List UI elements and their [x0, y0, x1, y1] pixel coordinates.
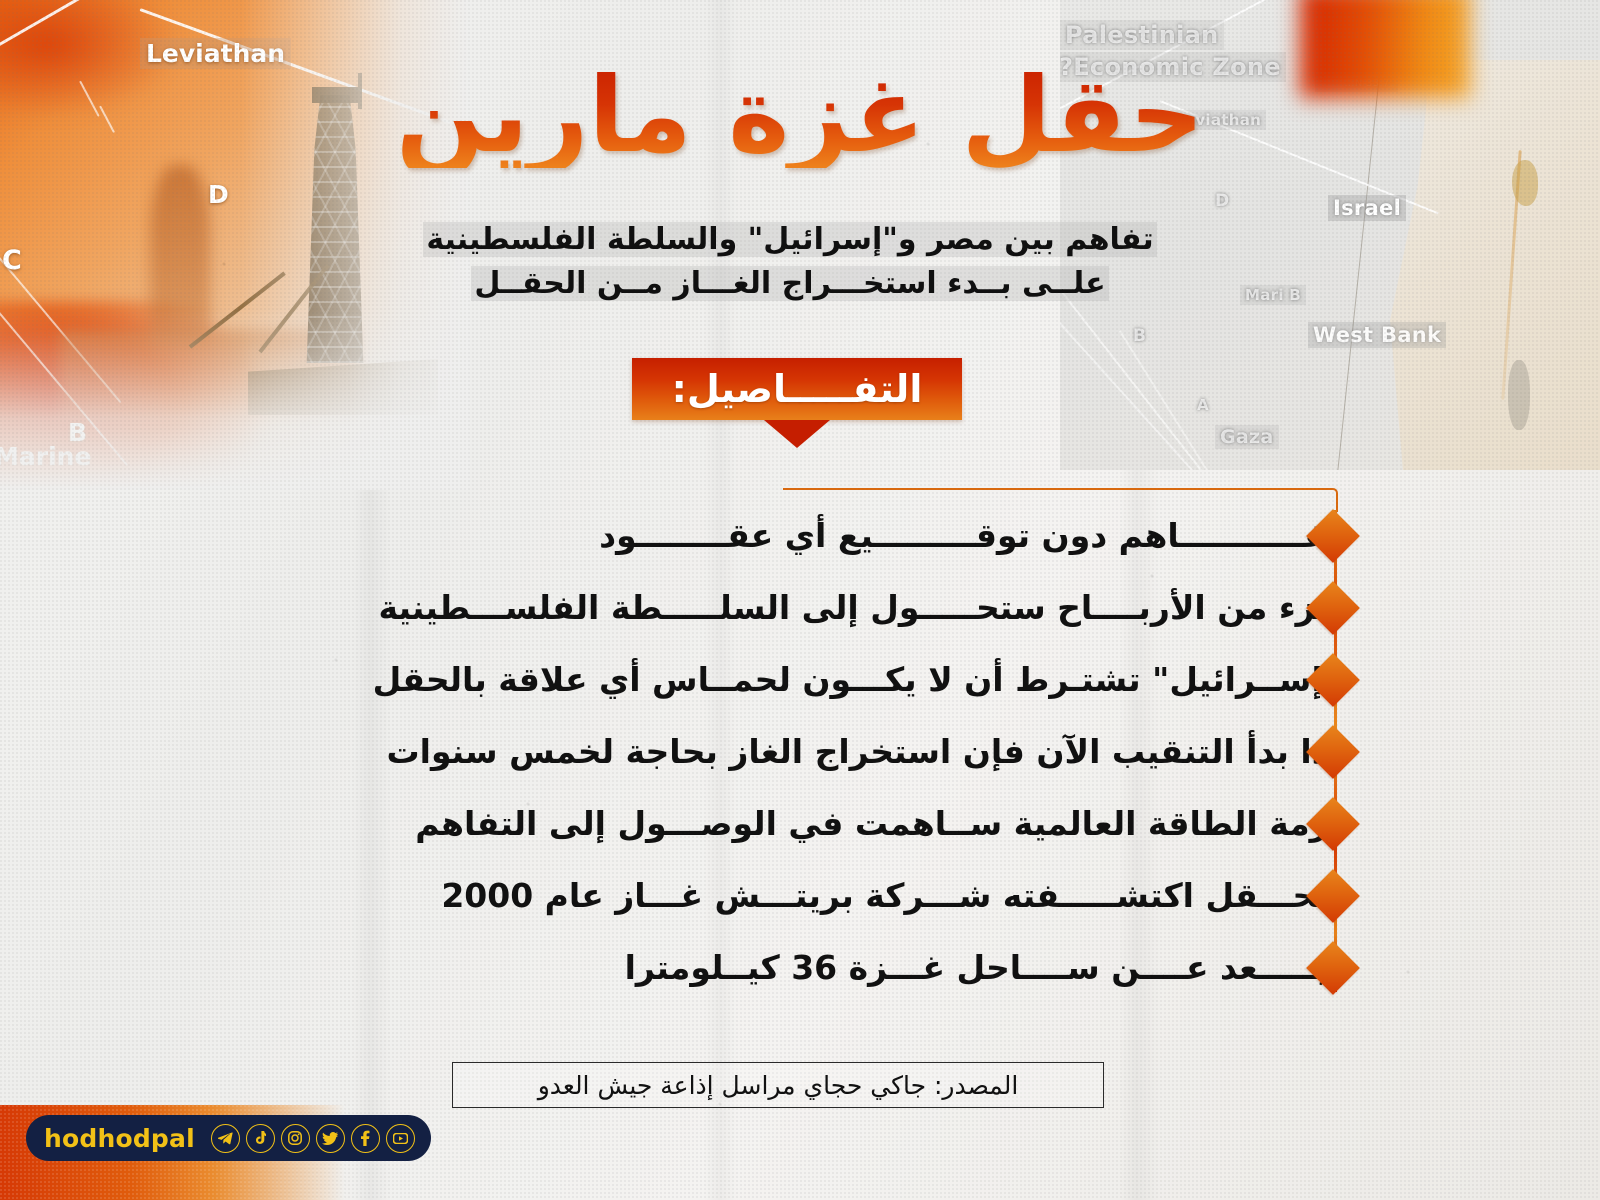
list-item: جزء من الأربــــاح ستحـــــول إلى السلــ…	[250, 572, 1350, 644]
details-list: تفـــــــــــاهم دون توقـــــــــيع أي ع…	[250, 500, 1350, 1004]
telegram-icon[interactable]	[211, 1124, 240, 1153]
list-item: الحـــقل اكتشـــــفته شـــركة بريتـــش غ…	[250, 860, 1350, 932]
details-banner-box: التفـــــاصيل:	[632, 358, 962, 420]
social-handle-bar: hodhodpal	[26, 1115, 431, 1161]
social-handle-text[interactable]: hodhodpal	[38, 1124, 205, 1153]
list-item: أزمة الطاقة العالمية ســاهمت في الوصـــو…	[250, 788, 1350, 860]
list-item-text: إذا بدأ التنقيب الآن فإن استخراج الغاز ب…	[300, 731, 1350, 772]
source-box: المصدر: جاكي حجاي مراسل إذاعة جيش العدو	[452, 1062, 1104, 1108]
list-item-text: "إســرائيل" تشتـرط أن لا يكـــون لحمــاس…	[300, 659, 1350, 700]
list-item: تفـــــــــــاهم دون توقـــــــــيع أي ع…	[250, 500, 1350, 572]
subtitle-line-1: تفاهم بين مصر و"إسرائيل" والسلطة الفلسطي…	[420, 218, 1160, 262]
subtitle-line-2: علــى بــدء استخـــراج الغـــاز مــن الح…	[420, 262, 1160, 306]
source-text: المصدر: جاكي حجاي مراسل إذاعة جيش العدو	[538, 1071, 1019, 1100]
instagram-icon[interactable]	[281, 1124, 310, 1153]
banner-pointer-icon	[764, 420, 830, 448]
list-item-text: أزمة الطاقة العالمية ســاهمت في الوصـــو…	[300, 803, 1350, 844]
tiktok-icon[interactable]	[246, 1124, 275, 1153]
list-item: يبـــــعد عــــن ســــاحل غـــزة 36 كيــ…	[250, 932, 1350, 1004]
youtube-icon[interactable]	[386, 1124, 415, 1153]
list-item-text: جزء من الأربــــاح ستحـــــول إلى السلــ…	[300, 587, 1350, 628]
twitter-icon[interactable]	[316, 1124, 345, 1153]
list-item-text: الحـــقل اكتشـــــفته شـــركة بريتـــش غ…	[300, 875, 1350, 916]
list-item-text: تفـــــــــــاهم دون توقـــــــــيع أي ع…	[300, 515, 1350, 556]
details-banner: التفـــــاصيل:	[632, 358, 962, 420]
poster-canvas: Palestinian Economic Zone? ate point tha…	[0, 0, 1600, 1200]
details-banner-label: التفـــــاصيل:	[672, 367, 923, 411]
page-subtitle: تفاهم بين مصر و"إسرائيل" والسلطة الفلسطي…	[420, 218, 1160, 305]
list-item: إذا بدأ التنقيب الآن فإن استخراج الغاز ب…	[250, 716, 1350, 788]
page-title: حقل غزة مارين	[0, 62, 1600, 168]
list-item-text: يبـــــعد عــــن ســــاحل غـــزة 36 كيــ…	[300, 947, 1350, 988]
list-item: "إســرائيل" تشتـرط أن لا يكـــون لحمــاس…	[250, 644, 1350, 716]
facebook-icon[interactable]	[351, 1124, 380, 1153]
